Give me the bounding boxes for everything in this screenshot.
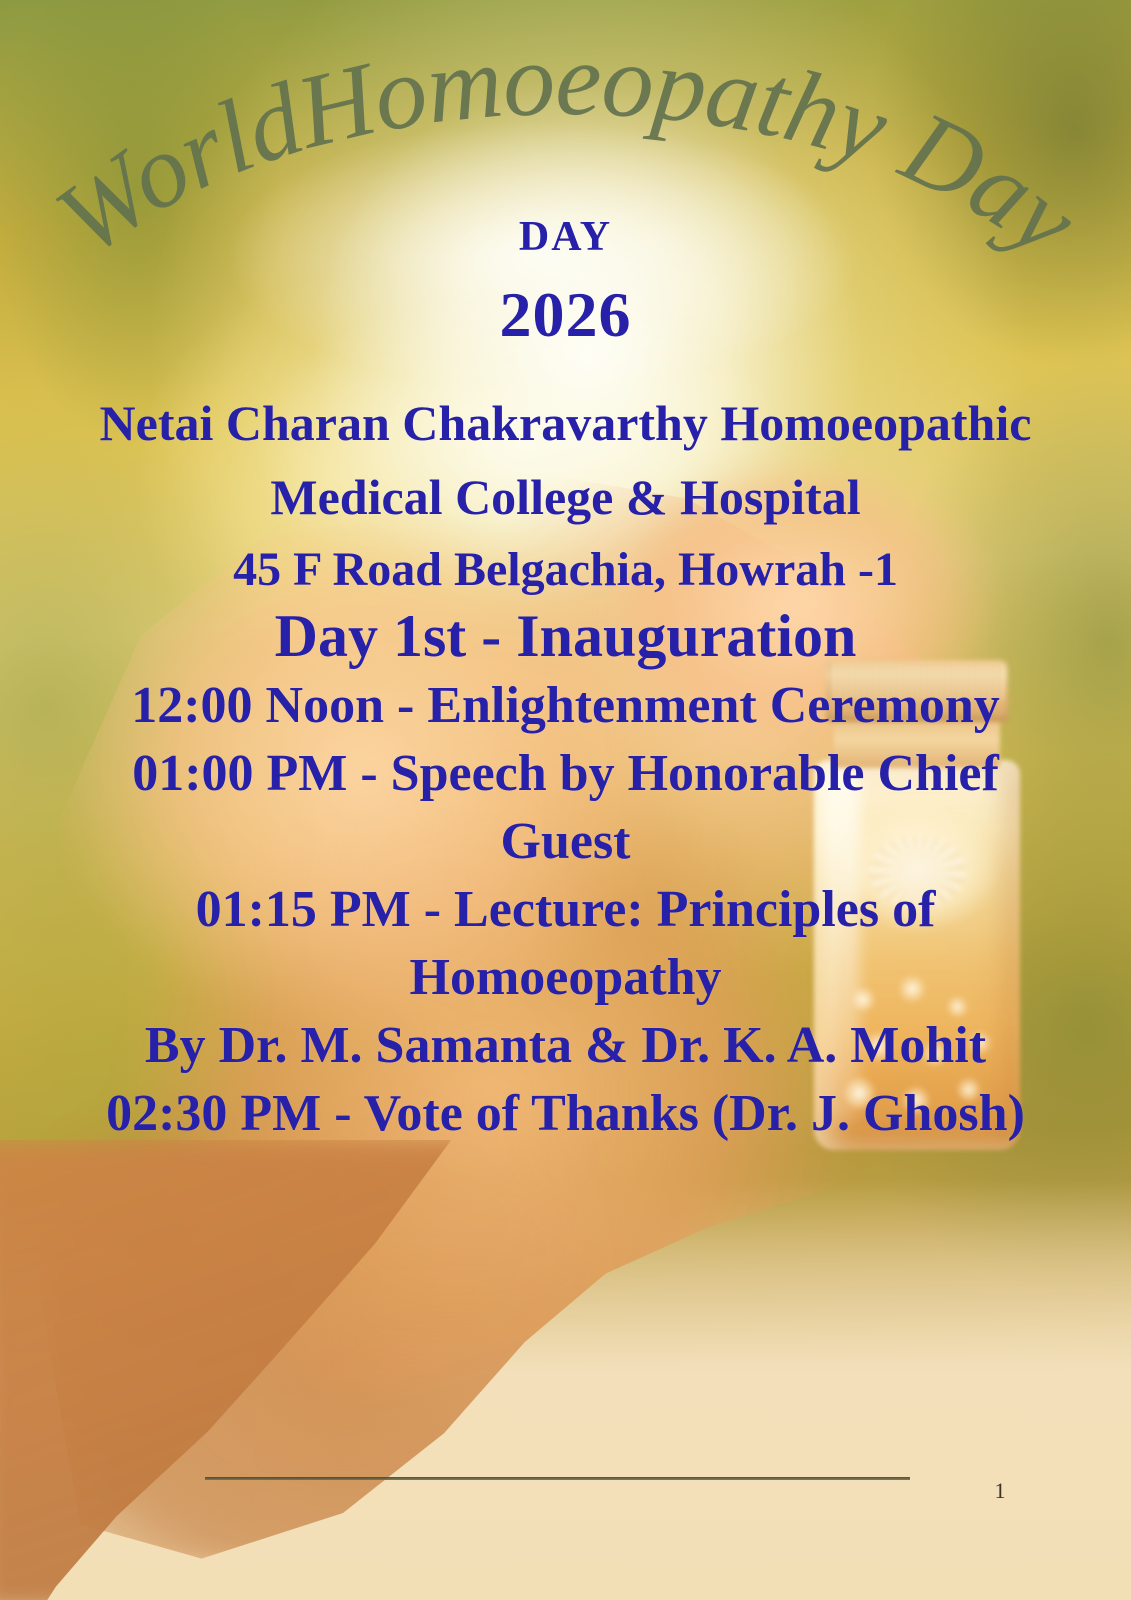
year-2026: 2026 <box>0 283 1131 347</box>
schedule-item: 01:00 PM - Speech by Honorable Chief <box>0 748 1131 800</box>
schedule-item: 12:00 Noon - Enlightenment Ceremony <box>0 680 1131 732</box>
organization-name-line2: Medical College & Hospital <box>0 472 1131 522</box>
footer-divider <box>205 1477 910 1480</box>
venue-address: 45 F Road Belgachia, Howrah -1 <box>0 546 1131 594</box>
day-heading: Day 1st - Inauguration <box>0 606 1131 666</box>
subtitle-day: DAY <box>0 216 1131 258</box>
schedule-item: 01:15 PM - Lecture: Principles of <box>0 884 1131 936</box>
event-details-block: Netai Charan Chakravarthy Homoeopathic M… <box>0 398 1131 1156</box>
schedule-item: By Dr. M. Samanta & Dr. K. A. Mohit <box>0 1020 1131 1072</box>
schedule-item: 02:30 PM - Vote of Thanks (Dr. J. Ghosh) <box>0 1088 1131 1140</box>
page-number: 1 <box>970 1478 1030 1504</box>
poster-page: WorldHomoeopathy Day DAY 2026 Netai Char… <box>0 0 1131 1600</box>
schedule-item: Homoeopathy <box>0 952 1131 1004</box>
schedule-item: Guest <box>0 816 1131 868</box>
organization-name-line1: Netai Charan Chakravarthy Homoeopathic <box>0 398 1131 448</box>
